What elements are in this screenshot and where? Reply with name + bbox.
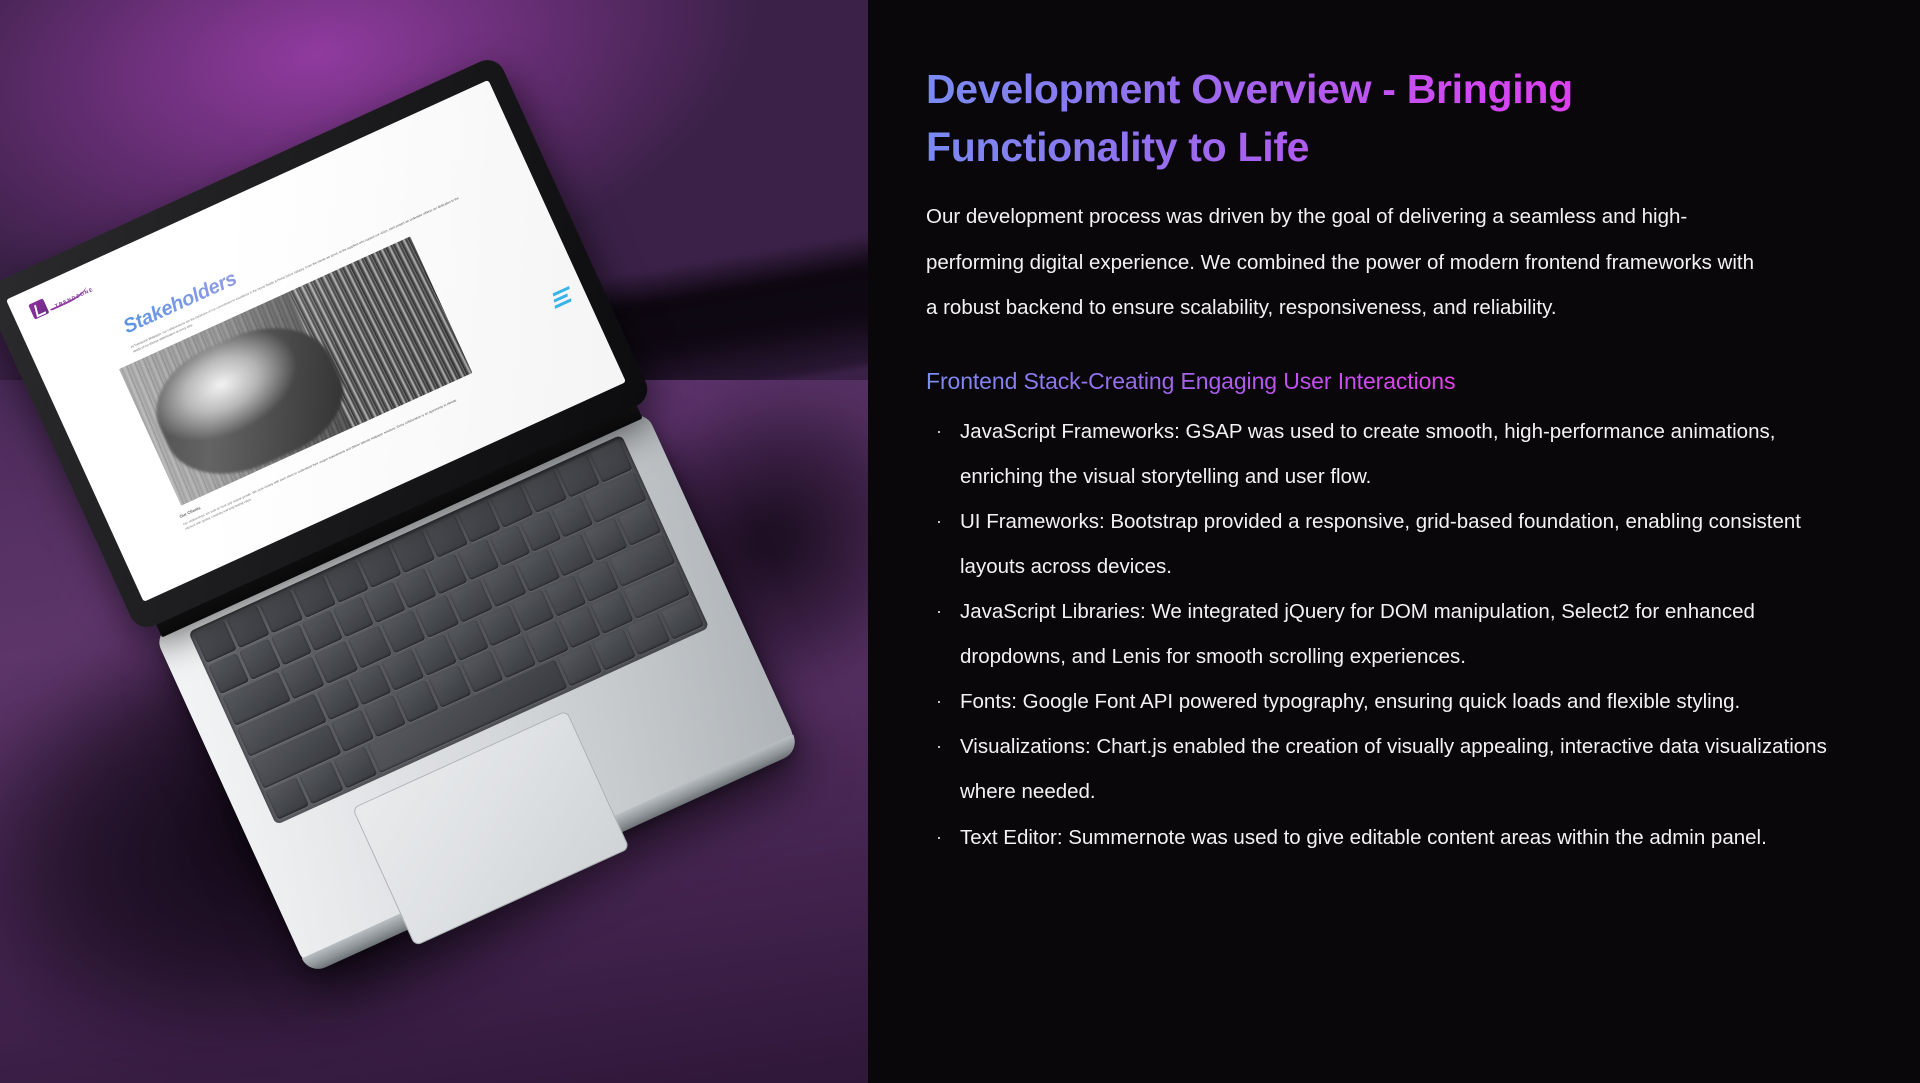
list-item-text: Text Editor: Summernote was used to give…: [960, 826, 1767, 849]
laptop-photo-panel: TRENDZONE Stakeholders At Trendzone Wall…: [0, 0, 868, 1083]
page-title: Development Overview - Bringing Function…: [926, 60, 1606, 176]
list-item-text: Fonts: Google Font API powered typograph…: [960, 690, 1740, 713]
intro-paragraph: Our development process was driven by th…: [926, 194, 1756, 329]
list-item: ·JavaScript Frameworks: GSAP was used to…: [926, 409, 1830, 499]
list-item-text: Visualizations: Chart.js enabled the cre…: [960, 735, 1827, 803]
content-panel: Development Overview - Bringing Function…: [868, 0, 1920, 1083]
accent-bars-icon: [553, 286, 572, 309]
list-item: ·Visualizations: Chart.js enabled the cr…: [926, 724, 1830, 814]
bullet-dot-icon: ·: [936, 815, 942, 859]
bullet-dot-icon: ·: [936, 409, 942, 453]
list-item-text: JavaScript Libraries: We integrated jQue…: [960, 600, 1755, 668]
bullet-dot-icon: ·: [936, 589, 942, 633]
list-item: ·Text Editor: Summernote was used to giv…: [926, 815, 1830, 860]
section-subheading: Frontend Stack-Creating Engaging User In…: [926, 368, 1455, 395]
list-item: ·JavaScript Libraries: We integrated jQu…: [926, 589, 1830, 679]
list-item-text: UI Frameworks: Bootstrap provided a resp…: [960, 510, 1801, 578]
list-item: ·UI Frameworks: Bootstrap provided a res…: [926, 499, 1830, 589]
slide-root: TRENDZONE Stakeholders At Trendzone Wall…: [0, 0, 1920, 1083]
bullet-dot-icon: ·: [936, 724, 942, 768]
frontend-stack-list: ·JavaScript Frameworks: GSAP was used to…: [926, 409, 1860, 860]
list-item-text: JavaScript Frameworks: GSAP was used to …: [960, 420, 1775, 488]
bullet-dot-icon: ·: [936, 679, 942, 723]
bullet-dot-icon: ·: [936, 499, 942, 543]
list-item: ·Fonts: Google Font API powered typograp…: [926, 679, 1830, 724]
